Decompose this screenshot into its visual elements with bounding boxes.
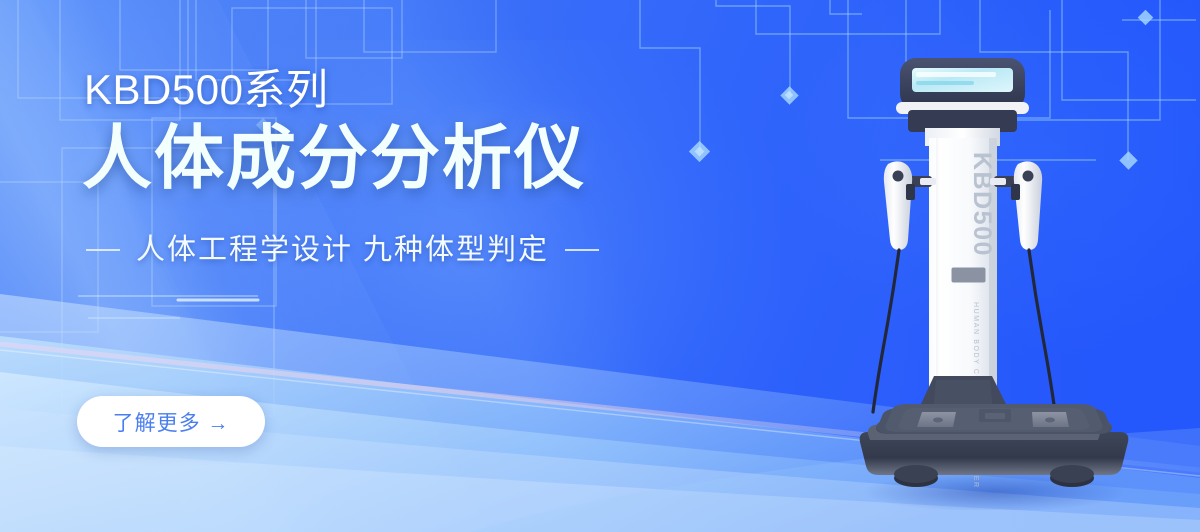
page-title: 人体成分分析仪 — [82, 119, 702, 197]
device-display-head — [896, 58, 1029, 132]
device-image: KBD500 Series HUMAN BODY COMPOSITION ANA… — [824, 40, 1164, 510]
hero-banner: KBD500 Series HUMAN BODY COMPOSITION ANA… — [0, 0, 1200, 532]
device-handle-left — [873, 161, 915, 412]
device-foot-right — [1050, 469, 1094, 487]
device-handle-arms — [902, 176, 1024, 187]
background-shade-right — [880, 0, 1200, 532]
electrode-pad-left — [917, 412, 956, 427]
learn-more-button[interactable]: 了解更多 → — [77, 396, 265, 447]
device-base-platform — [860, 404, 1129, 487]
subtitle-rule-right — [565, 249, 599, 251]
background-glow-right — [780, 0, 1200, 360]
subtitle-row: 人体工程学设计 九种体型判定 — [86, 233, 646, 268]
subtitle-rule-left — [86, 249, 120, 251]
device-series-badge: Series — [973, 285, 982, 314]
device-brand-text: KBD500 — [968, 152, 996, 257]
device-column: KBD500 Series HUMAN BODY COMPOSITION ANA… — [929, 138, 997, 489]
bottom-wave-decoration — [0, 232, 1200, 532]
eyebrow-text: KBD500系列 — [84, 68, 702, 113]
device-foot-left — [894, 469, 938, 487]
device-handle-right — [1011, 161, 1055, 412]
electrode-pad-right — [1032, 412, 1069, 427]
subtitle-text: 人体工程学设计 九种体型判定 — [136, 233, 549, 268]
hero-text-block: KBD500系列 人体成分分析仪 人体工程学设计 九种体型判定 — [82, 68, 702, 268]
device-tagline: HUMAN BODY COMPOSITION ANALYZER — [972, 302, 979, 489]
